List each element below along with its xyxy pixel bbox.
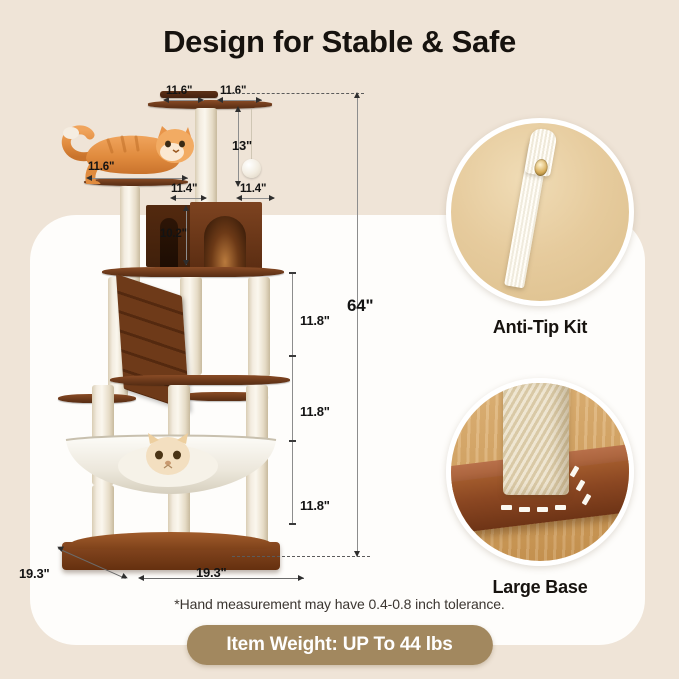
dim-top-drop: 13" — [232, 138, 252, 153]
large-base-image — [446, 378, 634, 566]
dim-base-width: 19.3" — [196, 565, 226, 580]
edge-dash-6 — [519, 507, 530, 512]
cat-orange-tabby — [46, 116, 196, 184]
feature-large-base: Large Base — [440, 378, 640, 598]
feature-anti-tip-kit: Anti-Tip Kit — [440, 118, 640, 338]
dim-condo-left: 11.4" — [171, 183, 197, 195]
condo-main-doorway — [204, 216, 246, 270]
post-upper-right — [248, 277, 270, 377]
condo-base-shelf — [102, 267, 284, 277]
mid-shelf — [110, 375, 290, 385]
condo-left-doorway — [160, 218, 178, 267]
infographic-page: Design for Stable & Safe — [0, 0, 679, 679]
item-weight-badge: Item Weight: UP To 44 lbs — [186, 625, 492, 665]
feature-label-anti-tip-kit: Anti-Tip Kit — [440, 317, 640, 338]
dim-top-platform-left: 11.6" — [166, 85, 192, 97]
dim-tier-1: 11.8" — [300, 313, 330, 328]
measurement-note: *Hand measurement may have 0.4-0.8 inch … — [0, 596, 679, 612]
edge-dash-4 — [555, 505, 566, 510]
edge-dash-7 — [501, 505, 512, 510]
toy-string — [251, 109, 252, 161]
dim-condo-height: 10.2" — [160, 228, 187, 240]
anti-tip-kit-image — [446, 118, 634, 306]
dim-cat-perch: 11.6" — [88, 161, 114, 173]
dim-base-depth: 19.3" — [19, 566, 49, 581]
dim-top-platform-right: 11.6" — [220, 85, 246, 97]
feature-label-large-base: Large Base — [440, 577, 640, 598]
dim-overall-height: 64" — [347, 296, 373, 316]
sisal-post-icon — [503, 378, 569, 495]
dim-tier-2: 11.8" — [300, 404, 330, 419]
cat-persian — [114, 428, 222, 488]
dim-condo-right: 11.4" — [240, 183, 266, 195]
base-board-top — [70, 532, 272, 550]
page-title: Design for Stable & Safe — [0, 24, 679, 60]
edge-dash-5 — [537, 507, 548, 512]
toy-ball-top — [242, 159, 261, 178]
dim-tier-3: 11.8" — [300, 498, 330, 513]
